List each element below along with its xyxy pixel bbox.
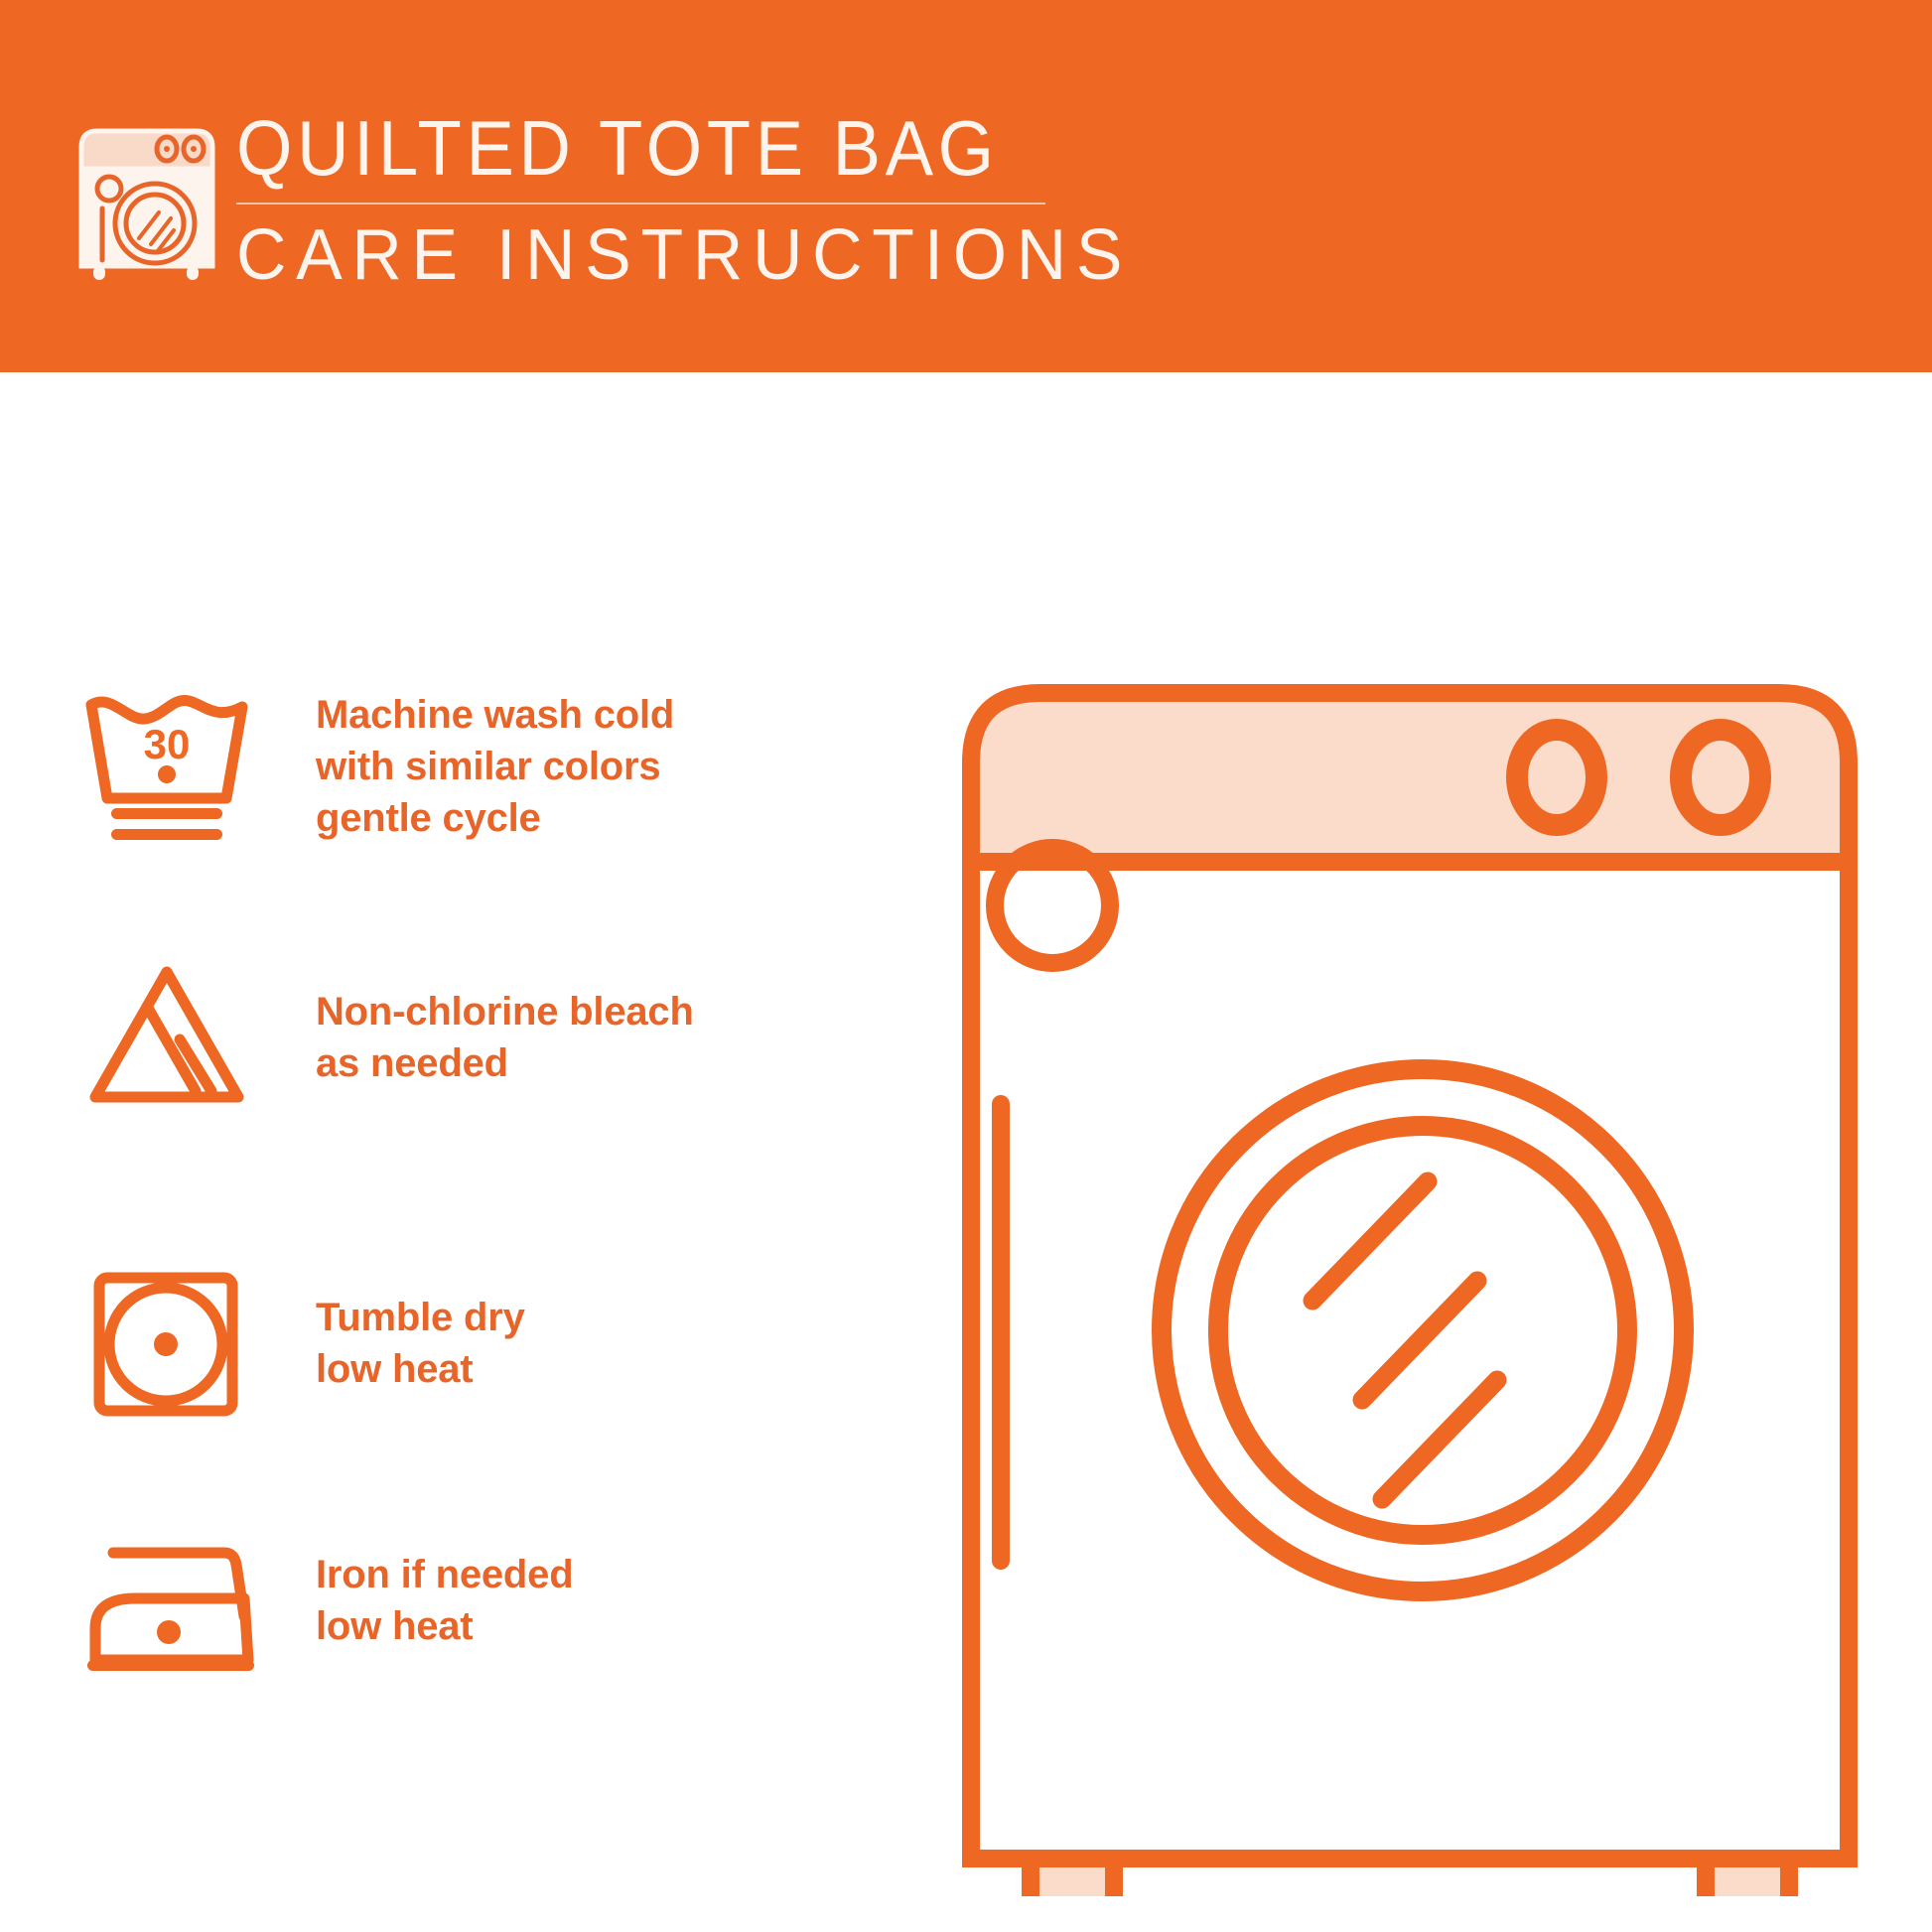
care-label-machine-wash: Machine wash cold with similar colors ge… [276, 689, 674, 844]
washing-machine-icon [77, 121, 216, 280]
care-label-bleach: Non-chlorine bleach as needed [276, 986, 694, 1089]
care-line: Machine wash cold [316, 689, 674, 741]
care-line: gentle cycle [316, 792, 674, 844]
iron-low-heat-icon [77, 1521, 276, 1680]
wash-tub-30-gentle-icon: 30 [77, 687, 276, 846]
care-item-bleach: Non-chlorine bleach as needed [77, 943, 772, 1132]
svg-text:30: 30 [144, 721, 191, 767]
care-line: low heat [316, 1343, 525, 1395]
care-item-iron: Iron if needed low heat [77, 1501, 772, 1700]
washing-machine-illustration [953, 635, 1866, 1896]
care-line: Tumble dry [316, 1292, 525, 1343]
header-text-block: QUILTED TOTE BAG CARE INSTRUCTIONS [236, 109, 1060, 293]
care-label-iron: Iron if needed low heat [276, 1549, 573, 1652]
header-divider [236, 203, 1045, 205]
page-subtitle: CARE INSTRUCTIONS [236, 218, 1035, 294]
care-line: Iron if needed [316, 1549, 573, 1600]
tumble-dry-low-icon [77, 1264, 276, 1423]
care-line: Non-chlorine bleach [316, 986, 694, 1037]
care-item-tumble-dry: Tumble dry low heat [77, 1249, 772, 1438]
care-line: as needed [316, 1037, 694, 1089]
care-item-machine-wash: 30 Machine wash cold with similar colors… [77, 667, 772, 866]
bleach-triangle-icon [77, 958, 276, 1117]
care-line: low heat [316, 1600, 573, 1652]
page-title: QUILTED TOTE BAG [236, 109, 1003, 189]
care-label-tumble-dry: Tumble dry low heat [276, 1292, 525, 1395]
care-line: with similar colors [316, 741, 674, 792]
header-banner: QUILTED TOTE BAG CARE INSTRUCTIONS [0, 0, 1932, 372]
